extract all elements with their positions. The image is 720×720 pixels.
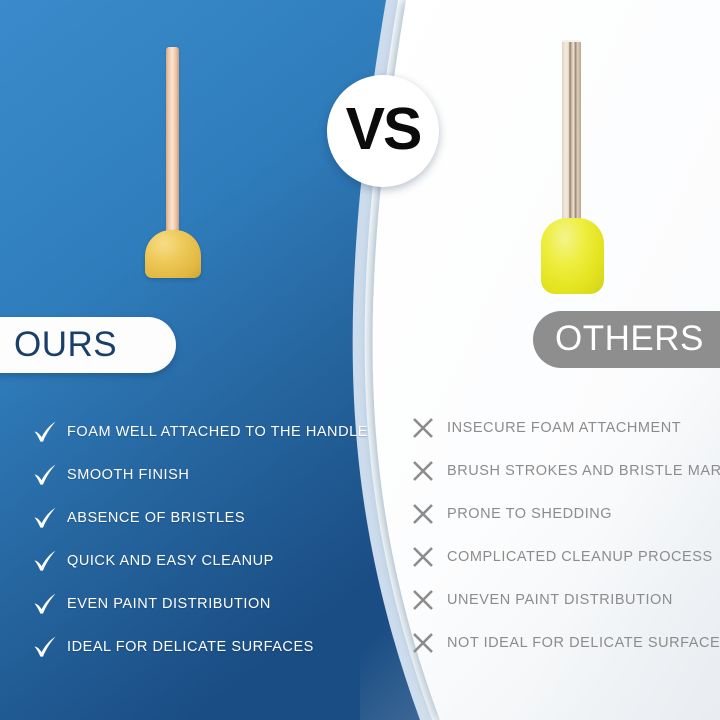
list-item: ABSENCE OF BRISTLES [30,496,360,539]
list-item-label: NOT IDEAL FOR DELICATE SURFACES [447,635,720,651]
check-icon [30,503,60,533]
list-item: IDEAL FOR DELICATE SURFACES [30,625,360,668]
list-item-label: FOAM WELL ATTACHED TO THE HANDLE [67,424,368,440]
product-image-others [534,36,614,298]
list-item-label: QUICK AND EASY CLEANUP [67,553,274,569]
list-item-label: ABSENCE OF BRISTLES [67,510,245,526]
list-item: INSECURE FOAM ATTACHMENT [408,406,720,449]
list-item: COMPLICATED CLEANUP PROCESS [408,535,720,578]
cross-icon [408,542,438,572]
others-badge: OTHERS [533,311,720,368]
brush-handle-others [562,42,581,232]
list-item: PRONE TO SHEDDING [408,492,720,535]
list-item: SMOOTH FINISH [30,453,360,496]
cross-icon [408,413,438,443]
list-item-label: PRONE TO SHEDDING [447,506,612,522]
list-item: QUICK AND EASY CLEANUP [30,539,360,582]
list-item: NOT IDEAL FOR DELICATE SURFACES [408,621,720,664]
check-icon [30,546,60,576]
list-item-label: INSECURE FOAM ATTACHMENT [447,420,681,436]
check-icon [30,632,60,662]
list-item-label: UNEVEN PAINT DISTRIBUTION [447,592,673,608]
list-item: UNEVEN PAINT DISTRIBUTION [408,578,720,621]
list-item: FOAM WELL ATTACHED TO THE HANDLE [30,410,360,453]
check-icon [30,460,60,490]
cross-icon [408,499,438,529]
comparison-infographic: VS OURS OTHERS FOAM WELL ATTACHED TO THE… [0,0,720,720]
vs-badge: VS [327,75,439,187]
list-item-label: EVEN PAINT DISTRIBUTION [67,596,271,612]
brush-foam-head-others [541,218,604,294]
list-item-label: BRUSH STROKES AND BRISTLE MARKS [447,463,720,479]
ours-badge: OURS [0,317,176,373]
list-item-label: COMPLICATED CLEANUP PROCESS [447,549,713,565]
list-item-label: SMOOTH FINISH [67,467,189,483]
brush-handle-ours [166,47,179,247]
cross-icon [408,456,438,486]
brush-foam-head-ours [145,230,201,278]
ours-badge-label: OURS [14,327,117,362]
list-item-label: IDEAL FOR DELICATE SURFACES [67,639,314,655]
others-badge-label: OTHERS [555,321,704,356]
list-item: BRUSH STROKES AND BRISTLE MARKS [408,449,720,492]
check-icon [30,589,60,619]
ours-feature-list: FOAM WELL ATTACHED TO THE HANDLE SMOOTH … [30,410,360,668]
cross-icon [408,628,438,658]
list-item: EVEN PAINT DISTRIBUTION [30,582,360,625]
others-feature-list: INSECURE FOAM ATTACHMENT BRUSH STROKES A… [408,406,720,664]
cross-icon [408,585,438,615]
vs-badge-label: VS [346,100,421,159]
check-icon [30,417,60,447]
product-image-ours [140,40,210,285]
